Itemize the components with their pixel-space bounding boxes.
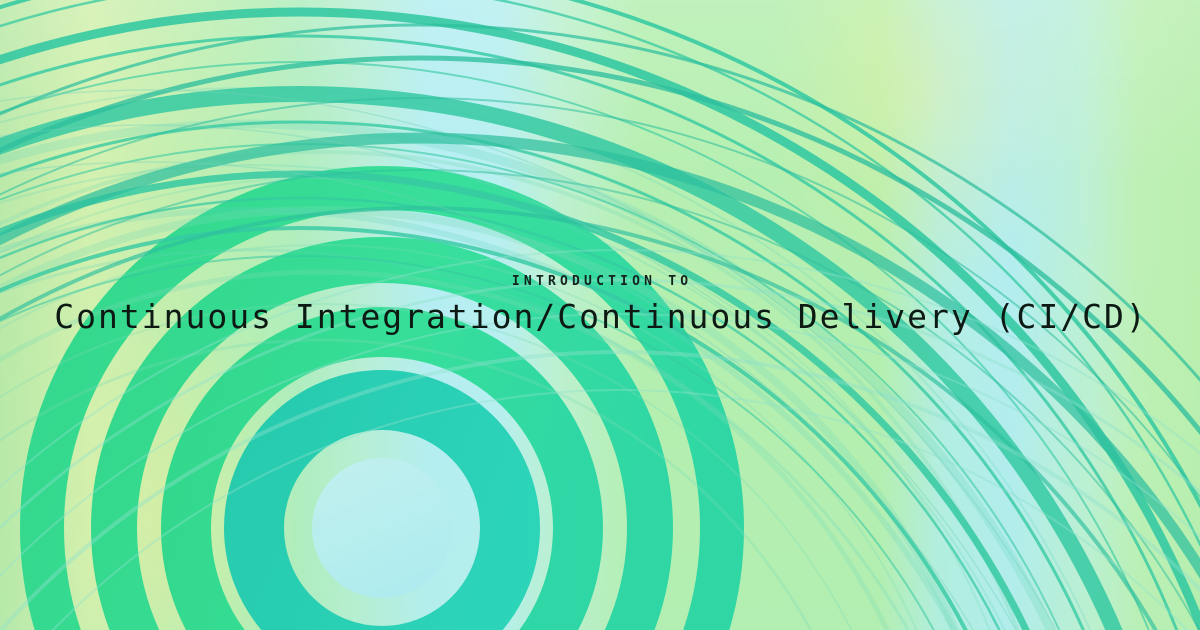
title-card: INTRODUCTION TO Continuous Integration/C…	[0, 0, 1200, 630]
title-block: INTRODUCTION TO Continuous Integration/C…	[0, 275, 1200, 336]
kicker-text: INTRODUCTION TO	[0, 275, 1200, 288]
page-title: Continuous Integration/Continuous Delive…	[0, 299, 1200, 336]
